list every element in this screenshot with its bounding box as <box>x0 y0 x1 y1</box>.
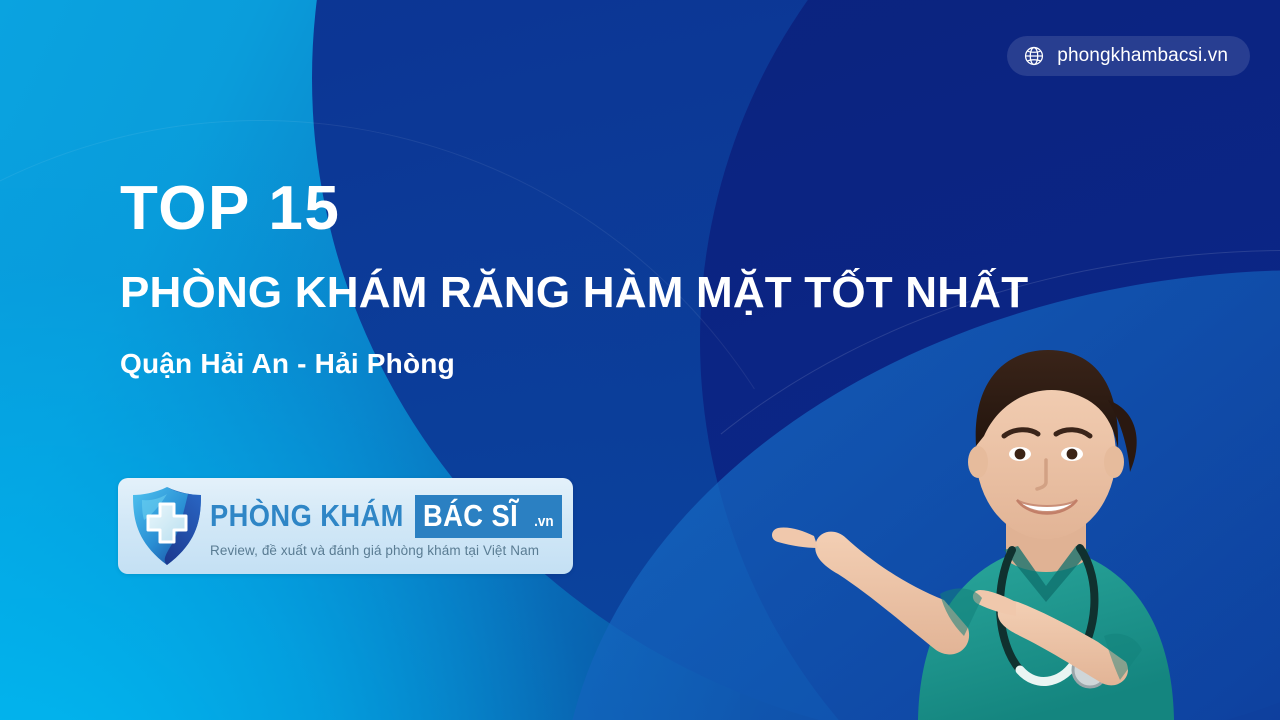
doctor-pointing-photo <box>768 250 1280 720</box>
brand-tld-label: .vn <box>534 513 554 530</box>
website-badge[interactable]: phongkhambacsi.vn <box>1007 36 1250 76</box>
brand-highlight-label: BÁC SĨ <box>423 498 518 534</box>
website-url-label: phongkhambacsi.vn <box>1057 45 1228 67</box>
brand-tagline: Review, đề xuất và đánh giá phòng khám t… <box>210 543 562 558</box>
brand-logo-text: PHÒNG KHÁM BÁC SĨ .vn Review, đề xuất và… <box>210 495 562 558</box>
hero-top-line: TOP 15 <box>120 178 1240 240</box>
brand-logo-panel[interactable]: PHÒNG KHÁM BÁC SĨ .vn Review, đề xuất và… <box>118 478 573 574</box>
brand-primary-label: PHÒNG KHÁM <box>210 498 404 534</box>
brand-highlight-box: BÁC SĨ .vn <box>415 495 562 538</box>
shield-cross-icon <box>128 484 206 568</box>
brand-logo-wordmark: PHÒNG KHÁM BÁC SĨ .vn <box>210 495 562 538</box>
globe-icon <box>1023 45 1045 67</box>
promo-banner: phongkhambacsi.vn TOP 15 PHÒNG KHÁM RĂNG… <box>0 0 1280 720</box>
